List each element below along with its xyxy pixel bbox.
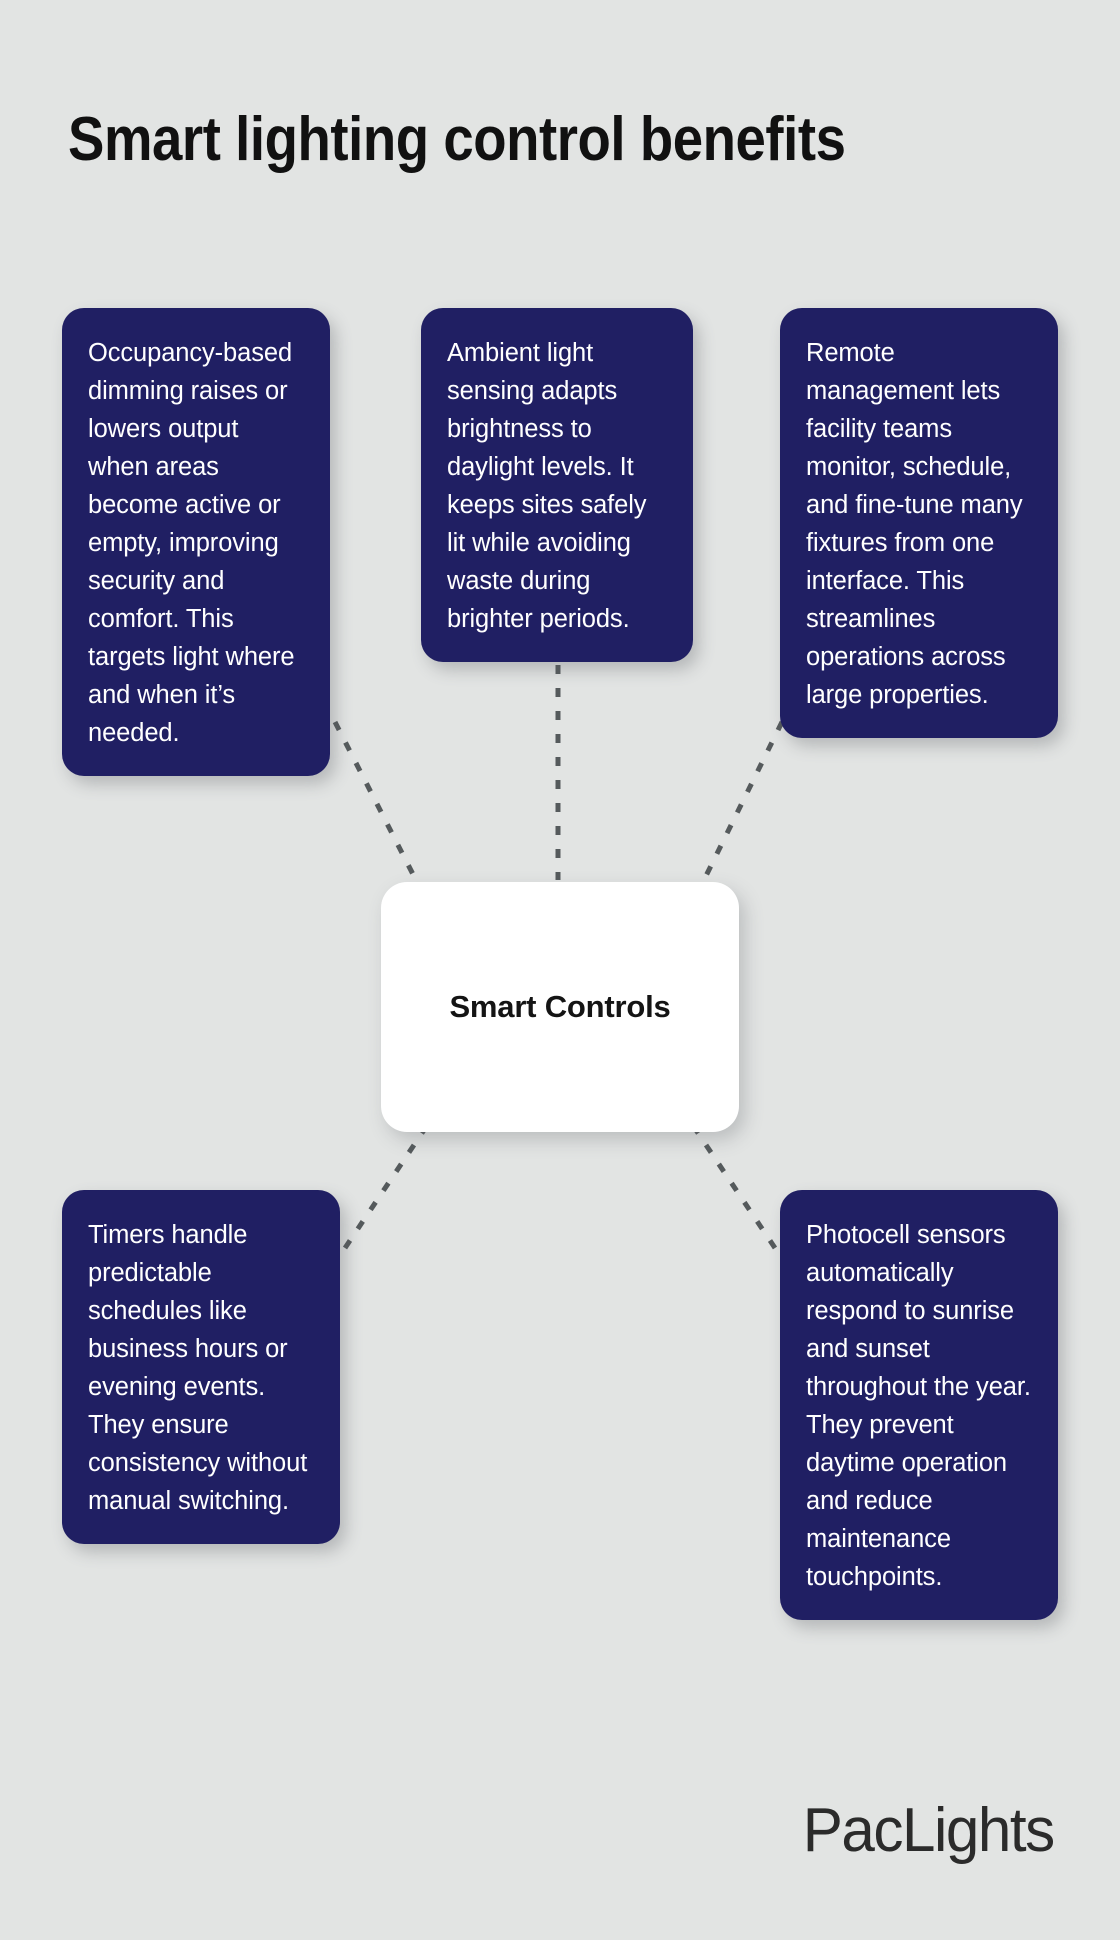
benefit-card-text: Remote management lets facility teams mo…: [806, 334, 1032, 714]
benefit-card-text: Photocell sensors automatically respond …: [806, 1216, 1032, 1596]
connector-occupancy: [335, 722, 420, 888]
infographic-canvas: Smart lighting control benefits Occupanc…: [0, 0, 1120, 1940]
connector-timers: [345, 1130, 424, 1248]
center-node-label: Smart Controls: [449, 989, 670, 1025]
benefit-card-photocell: Photocell sensors automatically respond …: [780, 1190, 1058, 1620]
connector-remote: [700, 722, 782, 888]
benefit-card-ambient: Ambient light sensing adapts brightness …: [421, 308, 693, 662]
benefit-card-remote: Remote management lets facility teams mo…: [780, 308, 1058, 738]
benefit-card-occupancy: Occupancy-based dimming raises or lowers…: [62, 308, 330, 776]
benefit-card-text: Ambient light sensing adapts brightness …: [447, 334, 667, 638]
benefit-card-text: Timers handle predictable schedules like…: [88, 1216, 314, 1520]
benefit-card-timers: Timers handle predictable schedules like…: [62, 1190, 340, 1544]
brand-logo: PacLights: [803, 1795, 1054, 1866]
connector-photocell: [696, 1130, 775, 1248]
page-title: Smart lighting control benefits: [68, 104, 948, 175]
center-node: Smart Controls: [381, 882, 739, 1132]
benefit-card-text: Occupancy-based dimming raises or lowers…: [88, 334, 304, 752]
